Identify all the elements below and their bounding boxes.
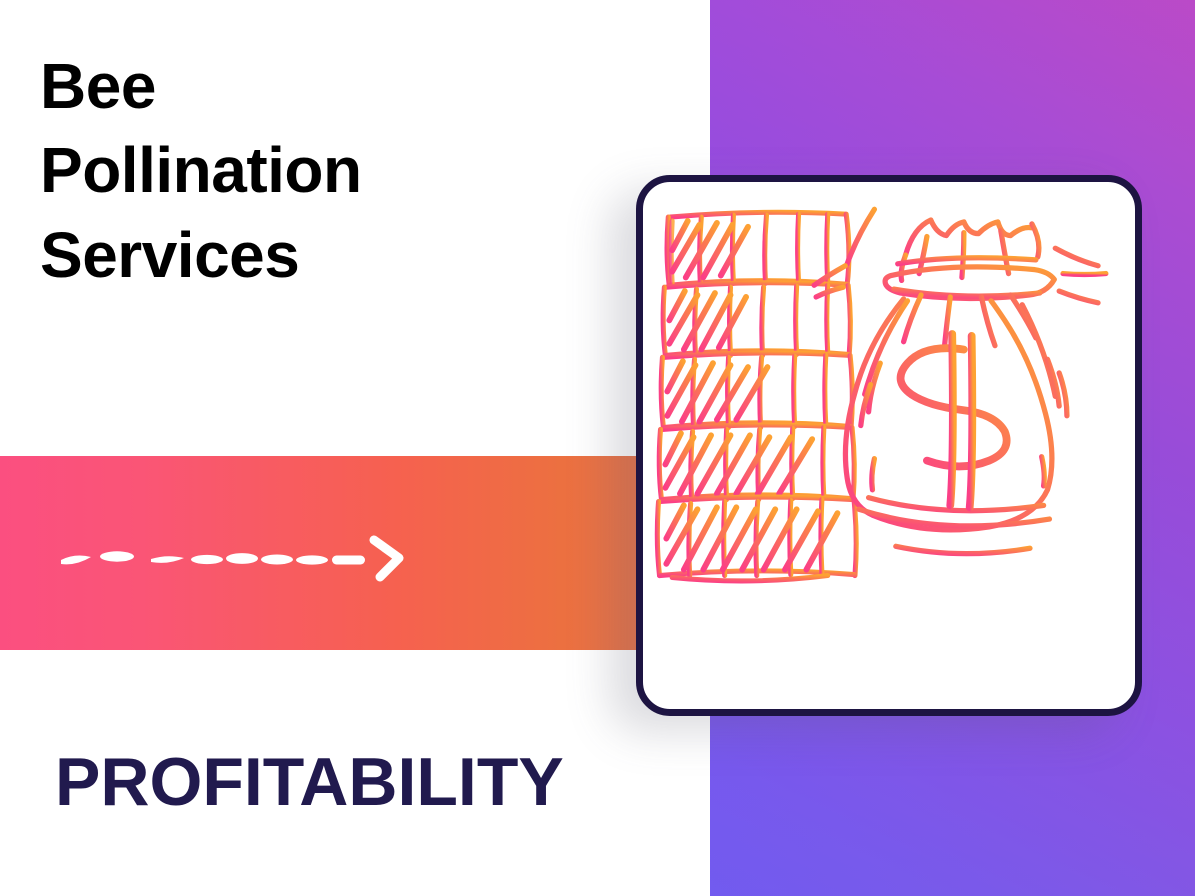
page-title: Bee Pollination Services — [40, 44, 600, 297]
slide-canvas: Bee Pollination Services — [0, 0, 1195, 896]
section-label: PROFITABILITY — [55, 748, 564, 816]
money-bag-icon — [814, 209, 1106, 553]
illustration-card — [636, 175, 1142, 716]
coin-stack-icon — [657, 212, 856, 581]
card-illustrations — [643, 182, 1135, 709]
dashed-right-arrow-icon — [55, 530, 415, 582]
